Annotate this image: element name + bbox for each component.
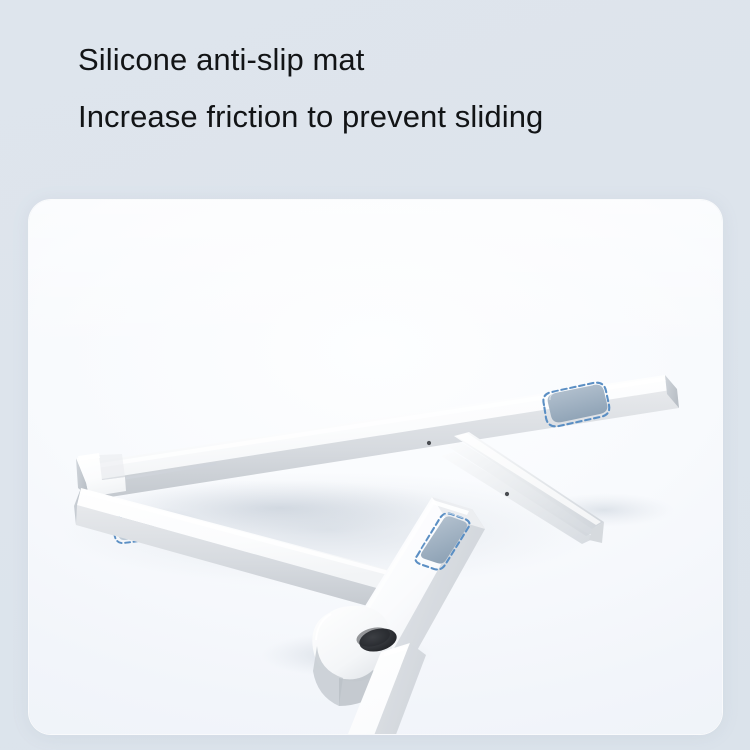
headline-block: Silicone anti-slip mat Increase friction… — [78, 38, 698, 139]
product-image-card: White foldable X-shaped laptop stand pho… — [29, 200, 722, 734]
product-feature-page: Silicone anti-slip mat Increase friction… — [0, 0, 750, 750]
headline-secondary: Increase friction to prevent sliding — [78, 95, 698, 139]
headline-primary: Silicone anti-slip mat — [78, 38, 698, 82]
product-illustration — [29, 200, 722, 734]
